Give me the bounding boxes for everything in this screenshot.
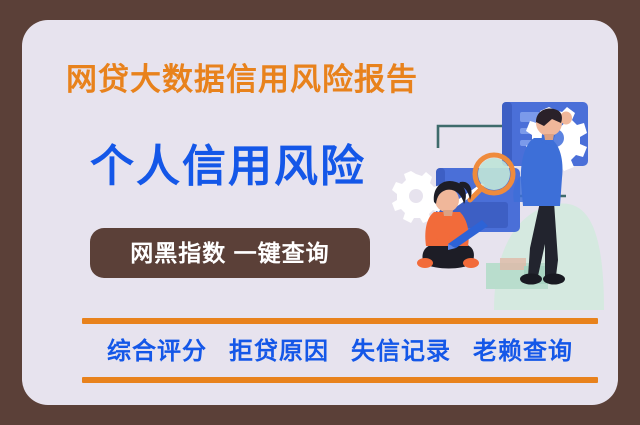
feature-row: 综合评分 拒贷原因 失信记录 老赖查询 bbox=[82, 332, 598, 372]
divider-bottom bbox=[82, 377, 598, 383]
query-badge[interactable]: 网黑指数 一键查询 bbox=[90, 228, 370, 278]
feature-item-2[interactable]: 拒贷原因 bbox=[229, 340, 329, 364]
divider-top bbox=[82, 318, 598, 324]
banner-headline: 个人信用风险 bbox=[90, 145, 366, 189]
credit-risk-banner: 网贷大数据信用风险报告 个人信用风险 网黑指数 一键查询 综合评分 拒贷原因 失… bbox=[0, 0, 640, 425]
data-analysis-illustration bbox=[390, 78, 618, 310]
feature-item-1[interactable]: 综合评分 bbox=[107, 340, 207, 364]
feature-item-3[interactable]: 失信记录 bbox=[351, 340, 451, 364]
banner-panel: 网贷大数据信用风险报告 个人信用风险 网黑指数 一键查询 综合评分 拒贷原因 失… bbox=[22, 20, 618, 405]
query-badge-label: 网黑指数 一键查询 bbox=[130, 242, 329, 265]
banner-title: 网贷大数据信用风险报告 bbox=[66, 64, 418, 95]
feature-item-4[interactable]: 老赖查询 bbox=[473, 340, 573, 364]
